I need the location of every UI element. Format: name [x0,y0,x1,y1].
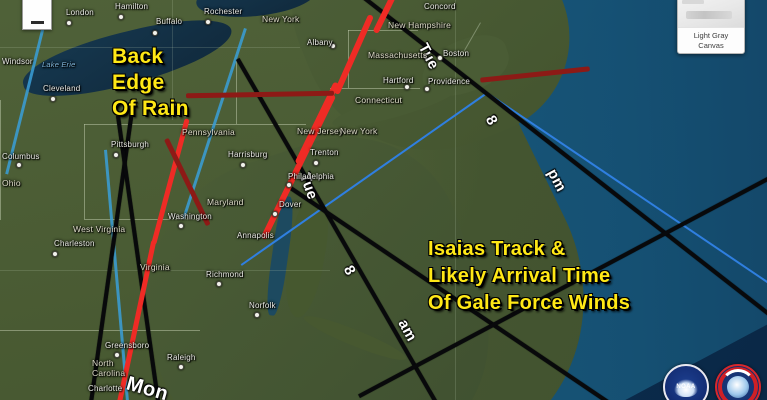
city-dot [113,152,119,158]
state-border [84,124,85,219]
basemap-thumbnail-icon [678,0,744,28]
city-dot [330,43,336,49]
track-annotation-line3: Of Gale Force Winds [428,290,630,317]
back-edge-annotation-line3: Of Rain [112,96,189,122]
city-dot [254,312,260,318]
city-dot [286,182,292,188]
city-dot [424,86,430,92]
city-dot [272,211,278,217]
city-dot [66,20,72,26]
noaa-logo-text: NOAA [665,384,707,390]
zoom-out-button[interactable] [22,0,52,30]
track-annotation-line2: Likely Arrival Time [428,263,610,290]
noaa-logo-icon: NOAA [663,364,709,400]
city-dot [50,96,56,102]
track-annotation-line1: Isaias Track & [428,236,566,263]
city-dot [16,162,22,168]
city-dot [118,14,124,20]
city-dot [216,281,222,287]
city-dot [437,55,443,61]
city-dot [52,251,58,257]
city-dot [404,84,410,90]
basemap-selector[interactable]: Light Gray Canvas [677,0,745,54]
nws-logo-icon [715,364,761,400]
city-dot [240,162,246,168]
city-dot [205,19,211,25]
minus-icon [31,21,44,24]
graticule-line [455,0,456,400]
city-dot [178,364,184,370]
agency-logos: NOAA [663,364,761,400]
city-dot [114,352,120,358]
back-edge-annotation-line1: Back [112,44,163,70]
city-dot [313,160,319,166]
city-dot [152,30,158,36]
nws-arc-icon [720,369,756,400]
city-dot [178,223,184,229]
basemap-label-line2: Canvas [678,41,744,51]
state-border [0,100,1,220]
basemap-label-line1: Light Gray [678,31,744,41]
state-border [236,124,306,125]
back-edge-annotation-line2: Edge [112,70,165,96]
graticule-line [0,270,330,271]
weather-map[interactable]: Tue 8 pm Tue 8 am Mon LondonHamiltonBuff… [0,0,767,400]
